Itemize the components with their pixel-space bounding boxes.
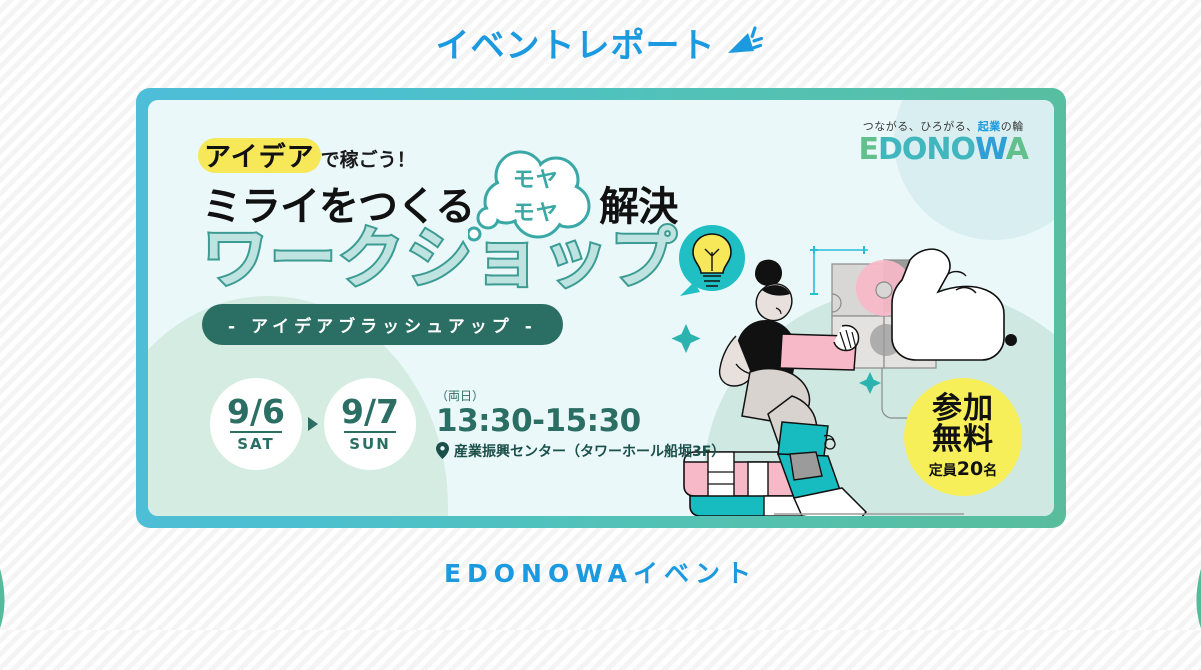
edonowa-logo: つながる、ひろがる、起業の輪 EDONOWA <box>858 118 1028 166</box>
megaphone-icon <box>722 21 766 65</box>
event-time: 13:30-15:30 <box>436 404 725 438</box>
capacity-prefix: 定員 <box>929 463 957 479</box>
idea-badge-label: アイデア <box>204 142 315 173</box>
location-pin-icon <box>436 442 449 459</box>
event-card-inner: つながる、ひろがる、起業の輪 EDONOWA アイデア で稼ごう！ ミライをつく… <box>148 100 1054 516</box>
page-header: イベントレポート <box>0 18 1201 67</box>
date-badge-1: 9/6 SAT <box>210 378 302 470</box>
venue-row: 産業振興センター（タワーホール船堀3F） <box>436 441 725 461</box>
free-admission-badge: 参加 無料 定員20名 <box>904 378 1022 496</box>
schedule-note: （両日） <box>436 387 725 404</box>
headline-line-1: アイデア で稼ごう！ <box>202 134 678 174</box>
date-badge-2: 9/7 SUN <box>324 378 416 470</box>
capacity-number: 20 <box>957 458 983 480</box>
logo-letter: W <box>975 132 1006 167</box>
logo-letter: D <box>878 132 902 167</box>
logo-wordmark: EDONOWA <box>858 134 1028 166</box>
date-1-number: 9/6 <box>227 395 285 428</box>
subtitle-ribbon: - アイデアブラッシュアップ - <box>202 304 563 345</box>
date-2-number: 9/7 <box>341 395 399 428</box>
bubble-line-1: モヤ <box>513 162 559 194</box>
workshop-title: ワークショップ <box>202 226 678 292</box>
page-footer: EDONOWAイベント <box>0 554 1201 590</box>
date-2-rule <box>344 431 396 433</box>
lightbulb-icon <box>679 225 745 296</box>
time-venue-block: （両日） 13:30-15:30 産業振興センター（タワーホール船堀3F） <box>436 387 725 460</box>
thought-bubble: モヤ モヤ <box>468 150 603 242</box>
headline-subtext: で稼ごう！ <box>321 145 416 174</box>
date-1-rule <box>230 431 282 433</box>
bubble-line-2: モヤ <box>513 195 559 227</box>
badge-line-2: 無料 <box>932 425 994 456</box>
thought-bubble-text: モヤ モヤ <box>468 150 603 242</box>
venue-name: 産業振興センター（タワーホール船堀3F） <box>454 441 725 461</box>
date-separator-icon <box>308 417 318 431</box>
logo-letter: O <box>951 132 976 167</box>
hand-illustration <box>892 249 1017 360</box>
capacity-suffix: 名 <box>983 463 997 479</box>
date-2-dayofweek: SUN <box>349 435 391 453</box>
event-card: つながる、ひろがる、起業の輪 EDONOWA アイデア で稼ごう！ ミライをつく… <box>136 88 1066 528</box>
logo-letter: E <box>858 132 878 167</box>
logo-letter: O <box>902 132 927 167</box>
page-title: イベントレポート <box>436 18 716 67</box>
headline-block: アイデア で稼ごう！ ミライをつくる <box>202 134 678 345</box>
badge-capacity: 定員20名 <box>929 458 997 480</box>
idea-badge: アイデア <box>202 135 317 174</box>
logo-letter: N <box>926 132 950 167</box>
logo-letter: A <box>1006 132 1028 167</box>
schedule-block: 9/6 SAT 9/7 SUN （両日） 13:30-15:30 産業振興セン <box>210 378 725 470</box>
badge-line-1: 参加 <box>932 394 994 425</box>
date-1-dayofweek: SAT <box>237 435 274 453</box>
